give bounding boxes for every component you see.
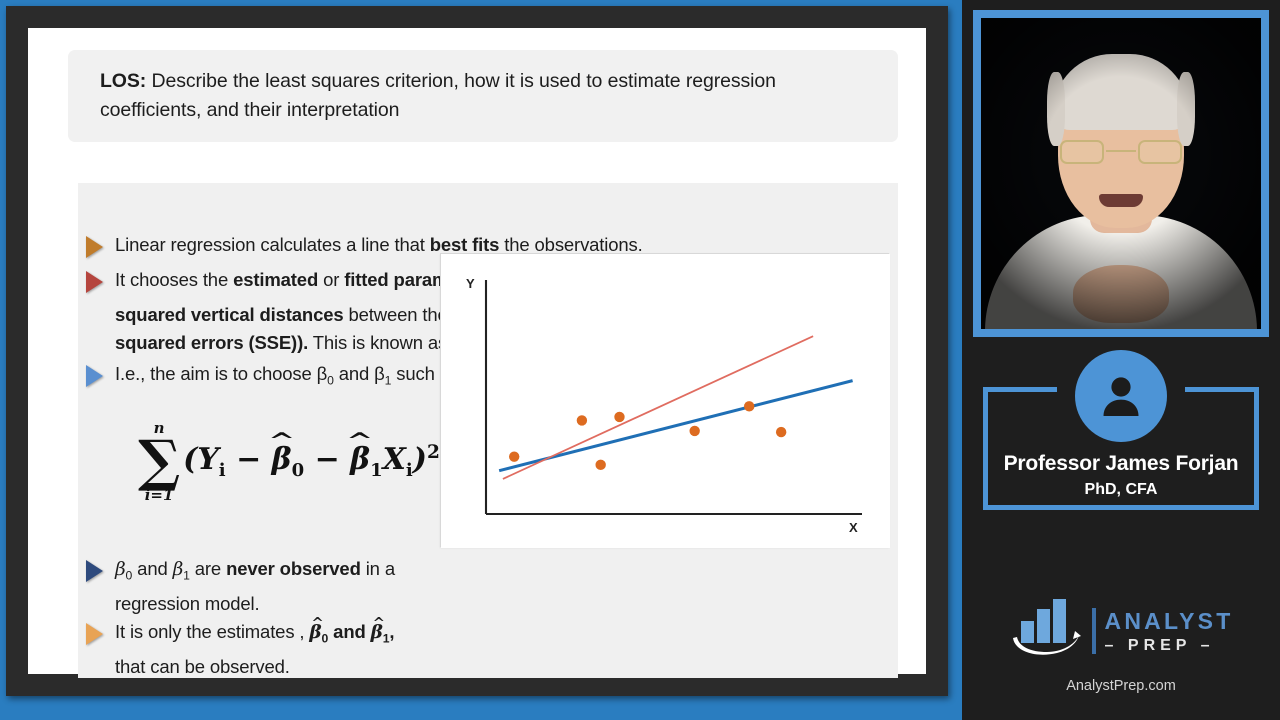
sidebar: Professor James Forjan PhD, CFA ANALYST xyxy=(962,0,1280,720)
los-text: LOS: Describe the least squares criterio… xyxy=(68,67,898,125)
person-icon xyxy=(1075,350,1167,442)
scatter-point xyxy=(689,426,699,436)
bullet-item: It is only the estimates , β^0 and β^1,t… xyxy=(86,618,456,681)
instructor-card: Professor James Forjan PhD, CFA xyxy=(973,350,1269,518)
logo-bar-2 xyxy=(1037,609,1050,643)
bullet-triangle-orange xyxy=(86,236,103,258)
instructor-title: PhD, CFA xyxy=(973,481,1269,499)
logo-wordmark: ANALYST – PREP – xyxy=(1105,608,1234,655)
bullet-triangle-blue xyxy=(86,365,103,387)
analystprep-bars-icon xyxy=(1009,603,1083,659)
logo-row: ANALYST – PREP – xyxy=(962,600,1280,662)
los-body: Describe the least squares criterion, ho… xyxy=(100,70,776,121)
bullet-triangle-navy xyxy=(86,560,103,582)
bullet-triangle-amber xyxy=(86,623,103,645)
brand-logo[interactable]: ANALYST – PREP – AnalystPrep.com xyxy=(962,600,1280,694)
scatter-point xyxy=(577,415,587,425)
regression-chart: Y X xyxy=(440,253,889,547)
bullet-text: It is only the estimates , β^0 and β^1,t… xyxy=(115,618,394,681)
video-vignette xyxy=(981,18,1261,329)
bullet-item: β0 and β1 are never observed in a regres… xyxy=(86,555,446,618)
logo-divider xyxy=(1092,608,1096,654)
screen: LOS: Describe the least squares criterio… xyxy=(0,0,1280,720)
scatter-point xyxy=(776,427,786,437)
instructor-name: Professor James Forjan xyxy=(973,452,1269,476)
sigma-glyph: ∑ xyxy=(138,436,180,488)
scatter-point xyxy=(509,451,519,461)
bullet-triangle-red xyxy=(86,271,103,293)
slide-surface: LOS: Describe the least squares criterio… xyxy=(28,28,926,674)
scatter-point xyxy=(744,401,754,411)
logo-bar-3 xyxy=(1053,599,1066,643)
instructor-video[interactable] xyxy=(973,10,1269,337)
logo-word-prep: – PREP – xyxy=(1105,637,1234,655)
logo-bar-1 xyxy=(1021,621,1034,643)
los-banner: LOS: Describe the least squares criterio… xyxy=(68,50,898,142)
video-surface[interactable] xyxy=(981,18,1261,329)
x-axis-label: X xyxy=(849,520,858,535)
formula-expression: (Yi − β0 − β1Xi)2 xyxy=(183,442,440,481)
bullet-text: β0 and β1 are never observed in a regres… xyxy=(115,555,446,618)
slide-stage: LOS: Describe the least squares criterio… xyxy=(0,0,962,720)
scatter-point xyxy=(595,460,605,470)
slide-frame: LOS: Describe the least squares criterio… xyxy=(6,6,948,696)
chart-canvas: Y X xyxy=(441,254,890,548)
scatter-point xyxy=(614,412,624,422)
y-axis-label: Y xyxy=(466,276,475,291)
sum-lower-limit: i=1 xyxy=(145,488,174,503)
summation-symbol: n ∑ i=1 xyxy=(138,421,180,503)
logo-word-analyst: ANALYST xyxy=(1105,608,1234,635)
los-label: LOS: xyxy=(100,70,146,92)
site-url: AnalystPrep.com xyxy=(962,678,1280,694)
